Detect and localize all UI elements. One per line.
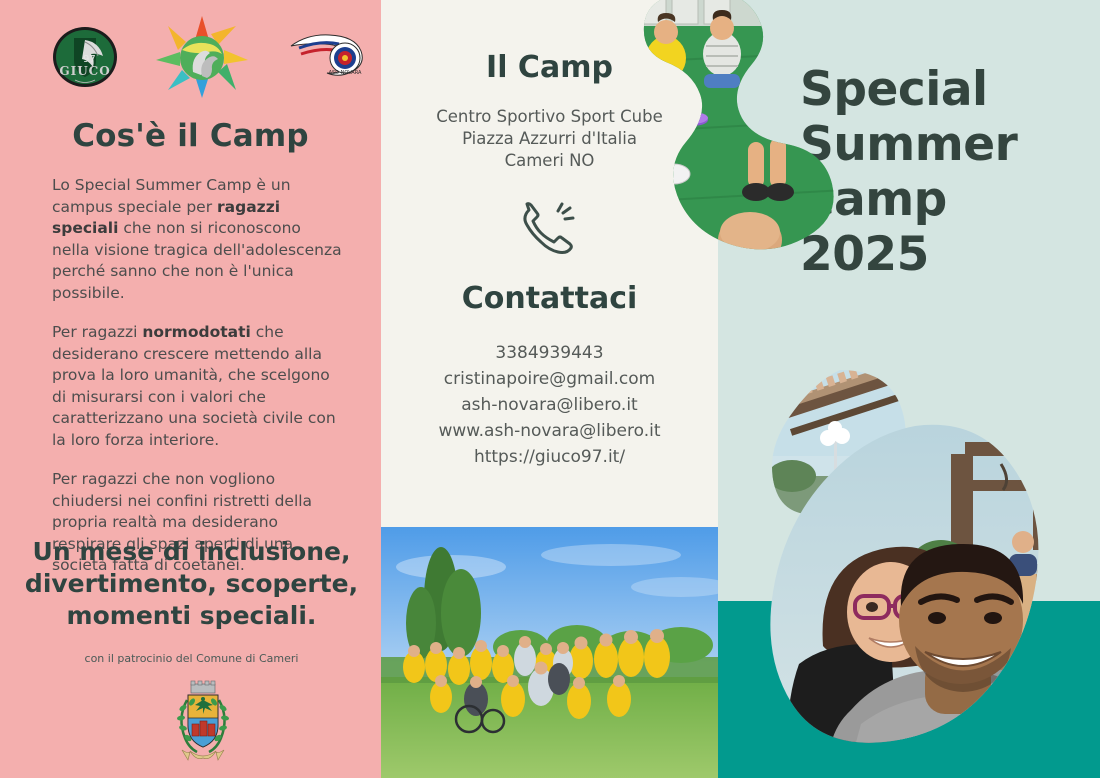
svg-text:GIUCO: GIUCO [59,64,110,78]
contact-list: 3384939443 cristinapoire@gmail.com ash-n… [381,340,718,470]
giuco-logo: 97 GIUCO [47,26,123,88]
group-photo [381,527,718,778]
asd-novara-logo: ASD NOVARA [287,32,365,78]
p2-before: Per ragazzi [52,323,142,341]
left-body-text: Lo Special Summer Camp è un campus speci… [52,175,342,595]
ringing-phone-icon [516,198,586,258]
contact-web-2[interactable]: https://giuco97.it/ [381,444,718,470]
contact-phone[interactable]: 3384939443 [381,340,718,366]
portrait-photo [765,424,1085,778]
contact-email-1[interactable]: cristinapoire@gmail.com [381,366,718,392]
partner-logos: 97 GIUCO [0,8,381,92]
svg-text:ASD NOVARA: ASD NOVARA [329,70,362,76]
gym-circle-photo [630,0,846,254]
paragraph-1: Lo Special Summer Camp è un campus speci… [52,175,342,304]
p2-bold: normodotati [142,323,250,341]
special-olympics-sun-logo [152,14,252,100]
paragraph-2: Per ragazzi normodotati che desiderano c… [52,322,342,451]
contact-web-1[interactable]: www.ash-novara@libero.it [381,418,718,444]
p2-after: che desiderano crescere mettendo alla pr… [52,323,336,449]
contact-heading: Contattaci [381,281,718,316]
left-tagline: Un mese di inclusione, divertimento, sco… [14,536,369,632]
patrocinio-note: con il patrocinio del Comune di Cameri [14,652,369,665]
left-heading: Cos'è il Camp [0,118,381,154]
brochure-page: 97 GIUCO [0,0,1100,778]
cameri-coat-of-arms-icon [168,678,238,770]
contact-email-2[interactable]: ash-novara@libero.it [381,392,718,418]
